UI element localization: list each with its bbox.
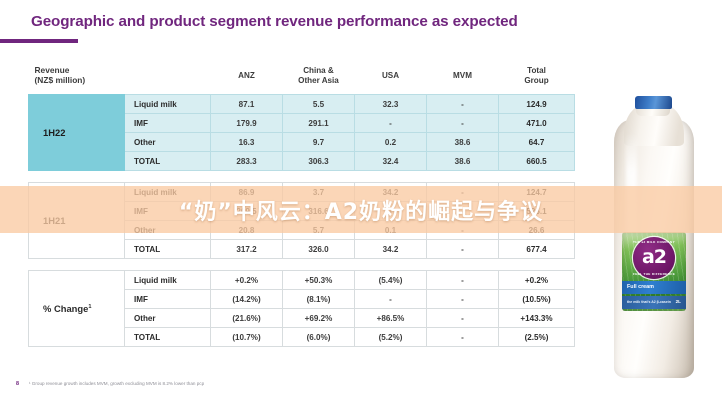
cell-china: 291.1	[283, 114, 355, 133]
cell-anz: (14.2%)	[211, 290, 283, 309]
cell-mvm: -	[427, 240, 499, 259]
cell-total: 64.7	[499, 133, 575, 152]
cell-usa: (5.2%)	[355, 328, 427, 347]
cell-china: +69.2%	[283, 309, 355, 328]
cell-total: 677.4	[499, 240, 575, 259]
cell-china: (6.0%)	[283, 328, 355, 347]
cell-total: +143.3%	[499, 309, 575, 328]
title-accent-bar	[0, 39, 78, 43]
cell-usa: 32.4	[355, 152, 427, 171]
column-header-mvm: MVM	[427, 58, 499, 95]
label-variant-text: Full cream	[627, 284, 654, 290]
cell-usa: +86.5%	[355, 309, 427, 328]
table-row: % Change1 Liquid milk +0.2% +50.3% (5.4%…	[29, 271, 575, 290]
column-header-china-other-asia: China & Other Asia	[283, 58, 355, 95]
china-header-line1: China &	[283, 66, 355, 76]
cell-mvm: -	[427, 309, 499, 328]
china-header-line2: Other Asia	[283, 76, 355, 86]
cell-total: 660.5	[499, 152, 575, 171]
cell-anz: (21.6%)	[211, 309, 283, 328]
cell-china: 5.5	[283, 95, 355, 114]
cell-china: +50.3%	[283, 271, 355, 290]
logo-ring-bottom-text: FEEL THE DIFFERENCE	[633, 272, 675, 276]
column-header-total-group: Total Group	[499, 58, 575, 95]
label-info-band: the milk that's A2 β-casein 2L	[622, 296, 686, 309]
cell-total: 124.9	[499, 95, 575, 114]
cell-china: 326.0	[283, 240, 355, 259]
block-spacer	[29, 171, 575, 183]
row-item-label: TOTAL	[125, 328, 211, 347]
label-tagline: the milk that's A2 β-casein	[627, 300, 671, 304]
cell-anz: 16.3	[211, 133, 283, 152]
cell-total: (10.5%)	[499, 290, 575, 309]
product-bottle-image: THE a2 MILK COMPANY a2 FEEL THE DIFFEREN…	[606, 96, 702, 382]
block-spacer	[29, 259, 575, 271]
cell-china: 9.7	[283, 133, 355, 152]
cell-mvm: -	[427, 290, 499, 309]
footnote-marker: 1	[88, 304, 91, 310]
total-header-line1: Total	[499, 66, 575, 76]
cell-usa: 0.2	[355, 133, 427, 152]
a2-logo-icon: THE a2 MILK COMPANY a2 FEEL THE DIFFEREN…	[633, 237, 675, 279]
row-item-label: Other	[125, 133, 211, 152]
overlay-headline: “奶”中风云：A2奶粉的崛起与争议	[179, 194, 543, 226]
row-item-label: IMF	[125, 290, 211, 309]
cell-china: 306.3	[283, 152, 355, 171]
cell-usa: -	[355, 290, 427, 309]
row-item-label: Liquid milk	[125, 95, 211, 114]
page-number: 8	[16, 381, 19, 387]
cell-anz: 87.1	[211, 95, 283, 114]
cell-total: 471.0	[499, 114, 575, 133]
cell-anz: 317.2	[211, 240, 283, 259]
row-item-label: Other	[125, 309, 211, 328]
cell-anz: +0.2%	[211, 271, 283, 290]
cell-mvm: -	[427, 95, 499, 114]
cell-usa: 34.2	[355, 240, 427, 259]
row-item-label: IMF	[125, 114, 211, 133]
table-row: 1H22 Liquid milk 87.1 5.5 32.3 - 124.9	[29, 95, 575, 114]
cell-total: +0.2%	[499, 271, 575, 290]
row-item-label: Liquid milk	[125, 271, 211, 290]
page-title: Geographic and product segment revenue p…	[31, 13, 518, 30]
total-header-line2: Group	[499, 76, 575, 86]
cell-anz: (10.7%)	[211, 328, 283, 347]
period-label-1h22: 1H22	[29, 95, 125, 171]
cell-mvm: -	[427, 114, 499, 133]
cell-mvm: -	[427, 271, 499, 290]
cell-usa: 32.3	[355, 95, 427, 114]
row-item-label: TOTAL	[125, 152, 211, 171]
corner-label-line2: (NZ$ million)	[35, 76, 211, 86]
bottle-cap	[635, 96, 672, 109]
column-header-usa: USA	[355, 58, 427, 95]
table-corner-label: Revenue (NZ$ million)	[29, 58, 211, 95]
cell-total: (2.5%)	[499, 328, 575, 347]
article-title-overlay: “奶”中风云：A2奶粉的崛起与争议	[0, 186, 722, 233]
cell-usa: (5.4%)	[355, 271, 427, 290]
period-label-pct-change: % Change1	[29, 271, 125, 347]
table-header-row: Revenue (NZ$ million) ANZ China & Other …	[29, 58, 575, 95]
cell-mvm: 38.6	[427, 133, 499, 152]
cell-anz: 283.3	[211, 152, 283, 171]
footnote-text: ¹ Group revenue growth includes MVM, gro…	[29, 381, 204, 386]
bottle-label: THE a2 MILK COMPANY a2 FEEL THE DIFFEREN…	[622, 232, 686, 311]
label-variant-band: Full cream	[622, 281, 686, 294]
label-volume: 2L	[676, 299, 681, 304]
cell-mvm: -	[427, 328, 499, 347]
column-header-anz: ANZ	[211, 58, 283, 95]
cell-mvm: 38.6	[427, 152, 499, 171]
cell-usa: -	[355, 114, 427, 133]
cell-china: (8.1%)	[283, 290, 355, 309]
row-item-label: TOTAL	[125, 240, 211, 259]
slide-canvas: Geographic and product segment revenue p…	[0, 0, 722, 400]
cell-anz: 179.9	[211, 114, 283, 133]
pct-change-text: % Change	[43, 303, 88, 314]
